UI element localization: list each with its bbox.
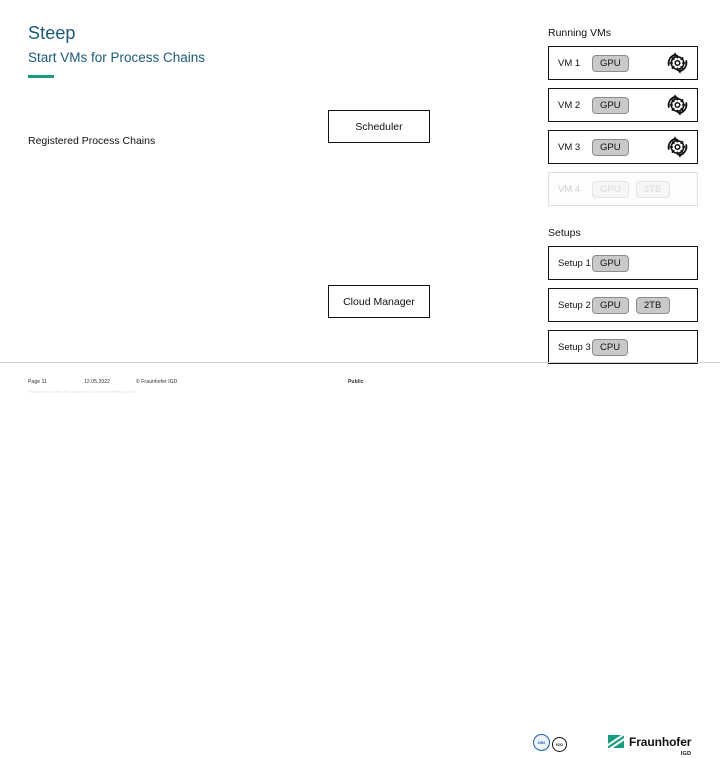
setup-card-2-badge-storage: 2TB (636, 297, 670, 314)
setup-card-3-badge-cpu: CPU (592, 339, 628, 356)
gear-sync-icon (664, 134, 691, 161)
footer-classification: Public (348, 379, 364, 385)
vm-card-4: VM 4 GPU 2TB (548, 172, 698, 206)
din-certification-badge: DIN (533, 734, 550, 751)
vm-card-2-badge-gpu: GPU (592, 97, 629, 114)
vm-card-3-badge-gpu: GPU (592, 139, 629, 156)
setups-panel: Setups Setup 1 GPU Setup 2 GPU 2TB Setup… (548, 227, 698, 372)
setup-card-2-label: Setup 2 (558, 300, 592, 311)
vm-card-4-badge-gpu: GPU (592, 181, 629, 198)
scheduler-box[interactable]: Scheduler (328, 110, 430, 143)
running-vms-heading: Running VMs (548, 27, 698, 39)
cloud-manager-box[interactable]: Cloud Manager (328, 285, 430, 318)
slide-footer: Page 11 12.05.2022 © Fraunhofer IGD Publ… (0, 362, 720, 405)
gear-sync-icon (664, 92, 691, 119)
setup-card-2[interactable]: Setup 2 GPU 2TB (548, 288, 698, 322)
running-vms-panel: Running VMs VM 1 GPU (548, 27, 698, 214)
slide-header: Steep Start VMs for Process Chains (28, 22, 508, 78)
vm-card-1-label: VM 1 (558, 58, 592, 69)
setup-card-1-badge-gpu: GPU (592, 255, 629, 272)
setups-heading: Setups (548, 227, 698, 239)
accent-bar (28, 75, 54, 78)
vm-card-4-badge-storage: 2TB (636, 181, 670, 198)
footer-date: 12.05.2022 (84, 379, 110, 385)
fraunhofer-logo: Fraunhofer IGD (608, 734, 691, 758)
setup-card-1-label: Setup 1 (558, 258, 592, 269)
scheduler-box-label: Scheduler (355, 121, 402, 133)
setup-card-3-label: Setup 3 (558, 342, 592, 353)
page-title: Steep (28, 22, 508, 45)
page-subtitle: Start VMs for Process Chains (28, 49, 508, 67)
vm-card-3-label: VM 3 (558, 142, 592, 153)
fraunhofer-mark-icon (608, 735, 624, 748)
fraunhofer-institute-label: IGD (629, 752, 691, 758)
vm-card-4-label: VM 4 (558, 184, 592, 195)
setup-card-1[interactable]: Setup 1 GPU (548, 246, 698, 280)
cloud-manager-box-label: Cloud Manager (343, 296, 415, 308)
fraunhofer-wordmark: Fraunhofer (629, 735, 691, 749)
vm-card-1[interactable]: VM 1 GPU (548, 46, 698, 80)
fraunhofer-logo-text: Fraunhofer IGD (629, 734, 691, 758)
vm-card-3[interactable]: VM 3 GPU (548, 130, 698, 164)
setup-card-3[interactable]: Setup 3 CPU (548, 330, 698, 364)
registered-process-chains-label: Registered Process Chains (28, 135, 155, 147)
iso-certification-badge: ISO (552, 737, 567, 752)
vm-card-1-badge-gpu: GPU (592, 55, 629, 72)
footer-copyright: © Fraunhofer IGD (136, 379, 177, 385)
vm-card-2-label: VM 2 (558, 100, 592, 111)
footer-page-number: Page 11 (28, 379, 47, 385)
certification-logos: DIN ISO (533, 733, 589, 755)
vm-card-2[interactable]: VM 2 GPU (548, 88, 698, 122)
footer-fine-print: Fraunhofer-Institut für Graphische Daten… (28, 389, 136, 394)
setup-card-2-badge-gpu: GPU (592, 297, 629, 314)
gear-sync-icon (664, 50, 691, 77)
slide-canvas: Steep Start VMs for Process Chains Regis… (0, 0, 720, 405)
